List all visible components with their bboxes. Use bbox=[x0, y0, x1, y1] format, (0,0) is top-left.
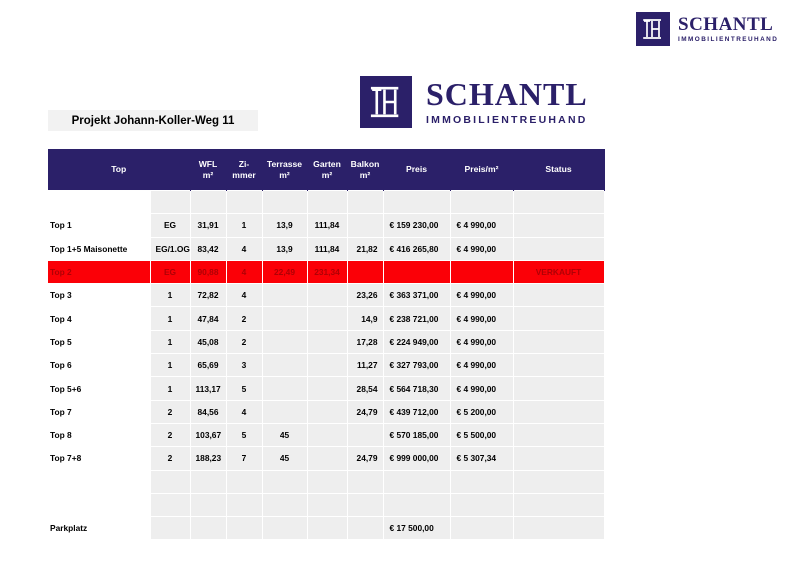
cell-status: VERKAUFT bbox=[513, 260, 604, 283]
cell-balkon bbox=[347, 423, 383, 446]
cell-top bbox=[48, 191, 150, 214]
cell-top: Top 4 bbox=[48, 307, 150, 330]
logo-main-brand-text: SCHANTL bbox=[426, 78, 588, 110]
cell-terrasse: 13,9 bbox=[262, 237, 307, 260]
cell-preis bbox=[383, 470, 450, 493]
cell-terrasse bbox=[262, 400, 307, 423]
cell-preis bbox=[383, 260, 450, 283]
cell-geschoss: 2 bbox=[150, 400, 190, 423]
cell-garten bbox=[307, 470, 347, 493]
cell-status bbox=[513, 470, 604, 493]
table-row: Top 1EG31,91113,9111,84€ 159 230,00€ 4 9… bbox=[48, 214, 604, 237]
table-row: Top 2EG90,88422,49231,34VERKAUFT bbox=[48, 260, 604, 283]
cell-zimmer: 2 bbox=[226, 330, 262, 353]
cell-zimmer bbox=[226, 517, 262, 540]
cell-balkon: 21,82 bbox=[347, 237, 383, 260]
cell-preis-m2 bbox=[450, 517, 513, 540]
cell-terrasse bbox=[262, 493, 307, 516]
cell-zimmer bbox=[226, 493, 262, 516]
cell-preis-m2 bbox=[450, 470, 513, 493]
cell-garten bbox=[307, 517, 347, 540]
cell-geschoss: EG/1.OG bbox=[150, 237, 190, 260]
cell-preis-m2: € 4 990,00 bbox=[450, 237, 513, 260]
cell-preis-m2: € 5 500,00 bbox=[450, 423, 513, 446]
cell-terrasse: 22,49 bbox=[262, 260, 307, 283]
cell-geschoss: 1 bbox=[150, 284, 190, 307]
table-body: Top 1EG31,91113,9111,84€ 159 230,00€ 4 9… bbox=[48, 191, 604, 540]
cell-status bbox=[513, 354, 604, 377]
cell-geschoss: 2 bbox=[150, 423, 190, 446]
cell-garten: 111,84 bbox=[307, 237, 347, 260]
cell-wfl: 103,67 bbox=[190, 423, 226, 446]
logo-brand-text: SCHANTL bbox=[678, 15, 778, 34]
logo-main: SCHANTL IMMOBILIENTREUHAND bbox=[360, 76, 588, 128]
cell-zimmer bbox=[226, 191, 262, 214]
cell-zimmer bbox=[226, 470, 262, 493]
cell-balkon bbox=[347, 517, 383, 540]
cell-status bbox=[513, 400, 604, 423]
cell-preis: € 439 712,00 bbox=[383, 400, 450, 423]
ith-monogram-icon bbox=[636, 12, 670, 46]
cell-terrasse bbox=[262, 377, 307, 400]
column-header-top: Top bbox=[48, 149, 190, 191]
cell-balkon: 11,27 bbox=[347, 354, 383, 377]
cell-wfl: 45,08 bbox=[190, 330, 226, 353]
cell-status bbox=[513, 284, 604, 307]
cell-status bbox=[513, 237, 604, 260]
column-header-wfl: WFL m² bbox=[190, 149, 226, 191]
cell-preis-m2: € 4 990,00 bbox=[450, 354, 513, 377]
cell-top: Top 5 bbox=[48, 330, 150, 353]
apartment-price-table: Top WFL m² Zi- mmer Terrasse m² Garten m… bbox=[48, 149, 605, 540]
table-row: Top 5145,08217,28€ 224 949,00€ 4 990,00 bbox=[48, 330, 604, 353]
table-row: Parkplatz€ 17 500,00 bbox=[48, 517, 604, 540]
cell-zimmer: 1 bbox=[226, 214, 262, 237]
cell-wfl: 47,84 bbox=[190, 307, 226, 330]
project-title: Projekt Johann-Koller-Weg 11 bbox=[48, 110, 258, 131]
cell-zimmer: 4 bbox=[226, 400, 262, 423]
logo-tagline-text: IMMOBILIENTREUHAND bbox=[678, 37, 778, 43]
column-header-terrasse-line1: Terrasse bbox=[267, 159, 302, 169]
cell-wfl: 31,91 bbox=[190, 214, 226, 237]
cell-preis-m2 bbox=[450, 191, 513, 214]
cell-top: Top 2 bbox=[48, 260, 150, 283]
cell-preis bbox=[383, 191, 450, 214]
cell-garten bbox=[307, 447, 347, 470]
cell-balkon bbox=[347, 214, 383, 237]
cell-status bbox=[513, 447, 604, 470]
cell-top: Top 1 bbox=[48, 214, 150, 237]
cell-preis bbox=[383, 493, 450, 516]
cell-preis: € 224 949,00 bbox=[383, 330, 450, 353]
cell-geschoss: EG bbox=[150, 214, 190, 237]
cell-zimmer: 4 bbox=[226, 237, 262, 260]
cell-geschoss: EG bbox=[150, 260, 190, 283]
cell-wfl bbox=[190, 493, 226, 516]
cell-balkon: 24,79 bbox=[347, 447, 383, 470]
cell-top: Top 3 bbox=[48, 284, 150, 307]
cell-wfl bbox=[190, 517, 226, 540]
table-row: Top 7+82188,2374524,79€ 999 000,00€ 5 30… bbox=[48, 447, 604, 470]
cell-preis-m2: € 4 990,00 bbox=[450, 214, 513, 237]
table-row: Top 82103,67545€ 570 185,00€ 5 500,00 bbox=[48, 423, 604, 446]
table-row: Top 1+5 MaisonetteEG/1.OG83,42413,9111,8… bbox=[48, 237, 604, 260]
cell-terrasse: 13,9 bbox=[262, 214, 307, 237]
column-header-zimmer-line1: Zi- bbox=[239, 159, 250, 169]
column-header-zimmer-line2: mmer bbox=[232, 170, 255, 180]
cell-balkon: 24,79 bbox=[347, 400, 383, 423]
column-header-garten-line2: m² bbox=[322, 170, 333, 180]
cell-garten bbox=[307, 284, 347, 307]
cell-balkon: 23,26 bbox=[347, 284, 383, 307]
cell-terrasse bbox=[262, 307, 307, 330]
cell-top: Top 1+5 Maisonette bbox=[48, 237, 150, 260]
cell-zimmer: 4 bbox=[226, 260, 262, 283]
cell-geschoss: 1 bbox=[150, 330, 190, 353]
cell-geschoss bbox=[150, 191, 190, 214]
cell-zimmer: 7 bbox=[226, 447, 262, 470]
cell-preis-m2: € 4 990,00 bbox=[450, 377, 513, 400]
column-header-terrasse-line2: m² bbox=[279, 170, 290, 180]
cell-top bbox=[48, 493, 150, 516]
cell-wfl bbox=[190, 470, 226, 493]
cell-terrasse bbox=[262, 354, 307, 377]
cell-top: Top 6 bbox=[48, 354, 150, 377]
cell-garten: 111,84 bbox=[307, 214, 347, 237]
cell-terrasse: 45 bbox=[262, 423, 307, 446]
cell-zimmer: 5 bbox=[226, 377, 262, 400]
table-row bbox=[48, 493, 604, 516]
column-header-balkon: Balkon m² bbox=[347, 149, 383, 191]
table-row bbox=[48, 191, 604, 214]
cell-garten: 231,34 bbox=[307, 260, 347, 283]
table-row: Top 7284,56424,79€ 439 712,00€ 5 200,00 bbox=[48, 400, 604, 423]
cell-preis-m2: € 4 990,00 bbox=[450, 330, 513, 353]
cell-preis-m2: € 4 990,00 bbox=[450, 307, 513, 330]
cell-balkon bbox=[347, 260, 383, 283]
cell-balkon: 14,9 bbox=[347, 307, 383, 330]
column-header-preis: Preis bbox=[383, 149, 450, 191]
cell-garten bbox=[307, 377, 347, 400]
cell-preis-m2: € 5 200,00 bbox=[450, 400, 513, 423]
cell-preis-m2 bbox=[450, 260, 513, 283]
cell-preis: € 17 500,00 bbox=[383, 517, 450, 540]
cell-garten bbox=[307, 493, 347, 516]
cell-zimmer: 5 bbox=[226, 423, 262, 446]
column-header-garten-line1: Garten bbox=[313, 159, 341, 169]
cell-preis: € 159 230,00 bbox=[383, 214, 450, 237]
cell-balkon: 28,54 bbox=[347, 377, 383, 400]
column-header-wfl-line1: WFL bbox=[199, 159, 218, 169]
cell-status bbox=[513, 214, 604, 237]
cell-terrasse bbox=[262, 191, 307, 214]
cell-top: Top 8 bbox=[48, 423, 150, 446]
cell-garten bbox=[307, 354, 347, 377]
table-row: Top 3172,82423,26€ 363 371,00€ 4 990,00 bbox=[48, 284, 604, 307]
cell-preis-m2: € 5 307,34 bbox=[450, 447, 513, 470]
cell-status bbox=[513, 191, 604, 214]
cell-balkon bbox=[347, 191, 383, 214]
column-header-preis-m2: Preis/m² bbox=[450, 149, 513, 191]
logo-header-small: SCHANTL IMMOBILIENTREUHAND bbox=[636, 12, 778, 46]
cell-top: Top 5+6 bbox=[48, 377, 150, 400]
cell-preis: € 363 371,00 bbox=[383, 284, 450, 307]
cell-geschoss bbox=[150, 493, 190, 516]
cell-status bbox=[513, 423, 604, 446]
table-row: Top 5+61113,17528,54€ 564 718,30€ 4 990,… bbox=[48, 377, 604, 400]
logo-main-tagline-text: IMMOBILIENTREUHAND bbox=[426, 115, 588, 126]
cell-wfl: 84,56 bbox=[190, 400, 226, 423]
cell-balkon bbox=[347, 493, 383, 516]
cell-top: Parkplatz bbox=[48, 517, 150, 540]
cell-preis: € 999 000,00 bbox=[383, 447, 450, 470]
cell-geschoss: 2 bbox=[150, 447, 190, 470]
column-header-terrasse: Terrasse m² bbox=[262, 149, 307, 191]
column-header-balkon-line2: m² bbox=[360, 170, 371, 180]
cell-terrasse: 45 bbox=[262, 447, 307, 470]
ith-monogram-large-icon bbox=[360, 76, 412, 128]
table-row: Top 4147,84214,9€ 238 721,00€ 4 990,00 bbox=[48, 307, 604, 330]
cell-geschoss bbox=[150, 470, 190, 493]
cell-preis: € 416 265,80 bbox=[383, 237, 450, 260]
cell-geschoss bbox=[150, 517, 190, 540]
cell-preis: € 238 721,00 bbox=[383, 307, 450, 330]
column-header-garten: Garten m² bbox=[307, 149, 347, 191]
cell-terrasse bbox=[262, 284, 307, 307]
cell-status bbox=[513, 377, 604, 400]
cell-wfl: 72,82 bbox=[190, 284, 226, 307]
cell-balkon bbox=[347, 470, 383, 493]
cell-status bbox=[513, 517, 604, 540]
cell-garten bbox=[307, 191, 347, 214]
table-row: Top 6165,69311,27€ 327 793,00€ 4 990,00 bbox=[48, 354, 604, 377]
cell-top: Top 7 bbox=[48, 400, 150, 423]
cell-wfl: 83,42 bbox=[190, 237, 226, 260]
cell-wfl: 65,69 bbox=[190, 354, 226, 377]
cell-zimmer: 4 bbox=[226, 284, 262, 307]
column-header-wfl-line2: m² bbox=[203, 170, 214, 180]
cell-preis: € 564 718,30 bbox=[383, 377, 450, 400]
cell-preis: € 327 793,00 bbox=[383, 354, 450, 377]
column-header-zimmer: Zi- mmer bbox=[226, 149, 262, 191]
cell-status bbox=[513, 493, 604, 516]
cell-zimmer: 3 bbox=[226, 354, 262, 377]
cell-preis-m2 bbox=[450, 493, 513, 516]
cell-wfl bbox=[190, 191, 226, 214]
cell-terrasse bbox=[262, 330, 307, 353]
cell-wfl: 113,17 bbox=[190, 377, 226, 400]
cell-wfl: 90,88 bbox=[190, 260, 226, 283]
cell-preis: € 570 185,00 bbox=[383, 423, 450, 446]
cell-garten bbox=[307, 400, 347, 423]
column-header-status: Status bbox=[513, 149, 604, 191]
cell-geschoss: 1 bbox=[150, 307, 190, 330]
cell-garten bbox=[307, 423, 347, 446]
cell-top: Top 7+8 bbox=[48, 447, 150, 470]
cell-geschoss: 1 bbox=[150, 377, 190, 400]
cell-top bbox=[48, 470, 150, 493]
cell-status bbox=[513, 330, 604, 353]
cell-zimmer: 2 bbox=[226, 307, 262, 330]
cell-preis-m2: € 4 990,00 bbox=[450, 284, 513, 307]
cell-wfl: 188,23 bbox=[190, 447, 226, 470]
cell-geschoss: 1 bbox=[150, 354, 190, 377]
cell-terrasse bbox=[262, 470, 307, 493]
cell-garten bbox=[307, 330, 347, 353]
cell-garten bbox=[307, 307, 347, 330]
table-header-row: Top WFL m² Zi- mmer Terrasse m² Garten m… bbox=[48, 149, 604, 191]
column-header-balkon-line1: Balkon bbox=[351, 159, 380, 169]
cell-terrasse bbox=[262, 517, 307, 540]
cell-balkon: 17,28 bbox=[347, 330, 383, 353]
cell-status bbox=[513, 307, 604, 330]
table-row bbox=[48, 470, 604, 493]
